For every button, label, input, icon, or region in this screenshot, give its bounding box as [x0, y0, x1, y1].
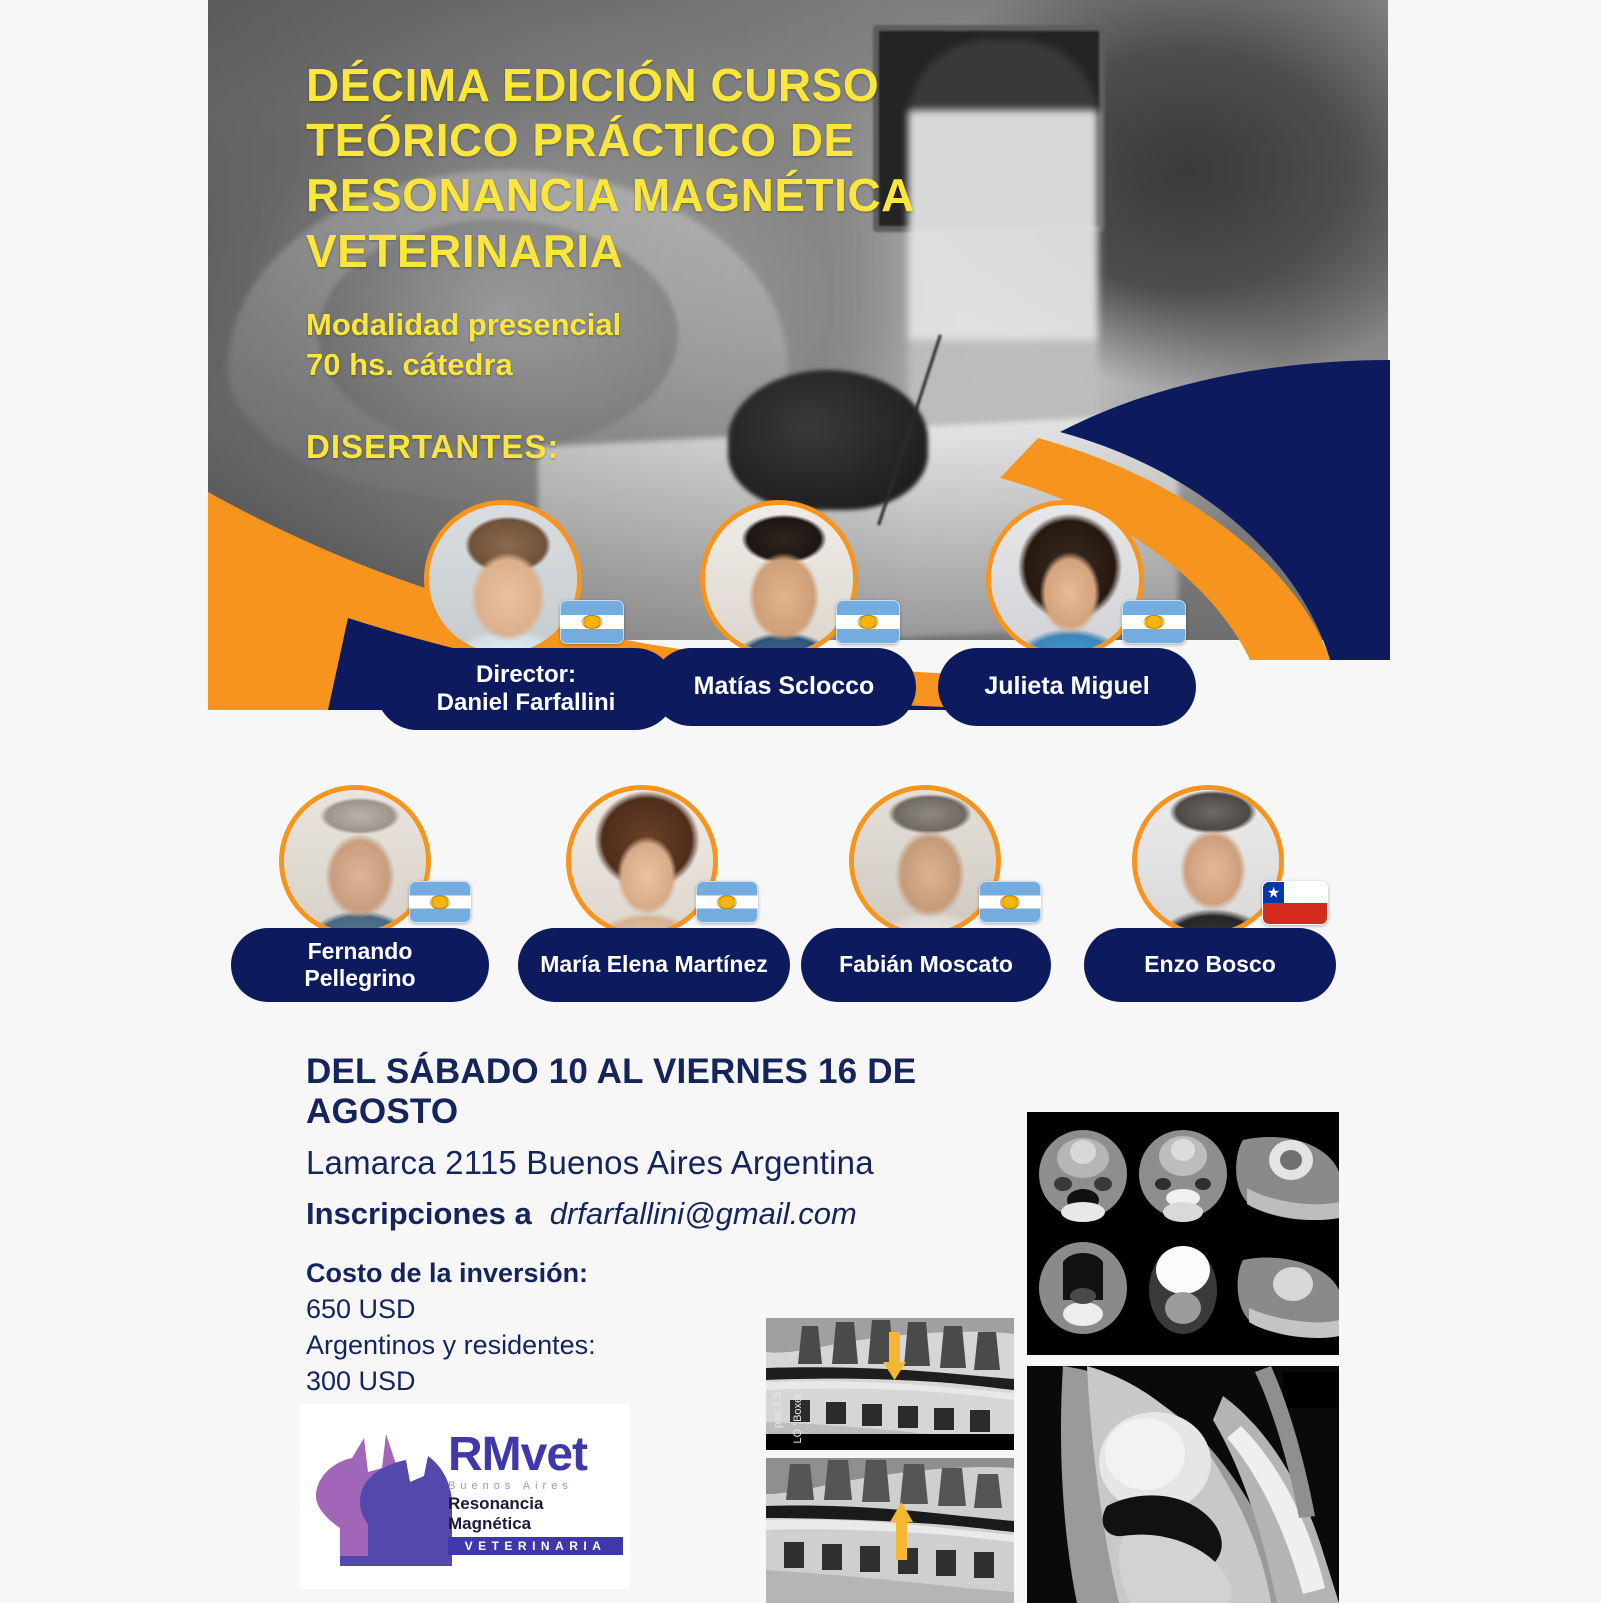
- rmvet-logo-text: RMvet Buenos Aires Resonancia Magnética …: [448, 1432, 623, 1555]
- title-line-3: RESONANCIA MAGNÉTICA: [306, 168, 1066, 223]
- event-dates: DEL SÁBADO 10 AL VIERNES 16 DE AGOSTO: [306, 1052, 1066, 1132]
- event-address: Lamarca 2115 Buenos Aires Argentina: [306, 1144, 1066, 1182]
- speaker-name-pill: Matías Sclocco: [652, 648, 916, 726]
- poster-root: DÉCIMA EDICIÓN CURSO TEÓRICO PRÁCTICO DE…: [0, 0, 1601, 1603]
- chile-flag-icon: ★: [1262, 881, 1328, 925]
- speakers-heading: DISERTANTES:: [306, 428, 559, 466]
- argentina-flag-icon: [1122, 600, 1186, 644]
- avatar-photo: [991, 505, 1139, 653]
- avatar-photo: [854, 790, 996, 932]
- mri-spine-label-2: LO "Boxer 6: [792, 1384, 804, 1444]
- title-line-2: TEÓRICO PRÁCTICO DE: [306, 113, 1066, 168]
- speaker-name-pill: Fabián Moscato: [801, 928, 1051, 1002]
- sun-of-may-icon: [1000, 895, 1020, 909]
- argentina-flag-icon: [836, 600, 900, 644]
- title-line-4: VETERINARIA: [306, 224, 1066, 279]
- sun-of-may-icon: [430, 895, 450, 909]
- mri-image-head-series: [1027, 1112, 1339, 1355]
- speaker-name-pill: Director: Daniel Farfallini: [376, 648, 676, 730]
- argentina-flag-icon: [409, 881, 471, 923]
- sun-of-may-icon: [717, 895, 737, 909]
- speaker-name-pill: María Elena Martínez: [518, 928, 790, 1002]
- rmvet-logo: RMvet Buenos Aires Resonancia Magnética …: [300, 1404, 630, 1589]
- avatar-photo: [284, 790, 426, 932]
- rmvet-tagline: Resonancia Magnética: [448, 1494, 623, 1534]
- argentina-flag-icon: [696, 881, 758, 923]
- registration-line: Inscripciones a drfarfallini@gmail.com: [306, 1196, 1066, 1232]
- title-line-1: DÉCIMA EDICIÓN CURSO: [306, 58, 1066, 113]
- avatar-photo: [429, 505, 577, 653]
- sun-of-may-icon: [581, 615, 602, 629]
- mri-spine-label-1: pse 1.5: [772, 1392, 784, 1428]
- avatar-photo: [571, 790, 713, 932]
- registration-email[interactable]: drfarfallini@gmail.com: [550, 1196, 857, 1232]
- poster-title-block: DÉCIMA EDICIÓN CURSO TEÓRICO PRÁCTICO DE…: [306, 58, 1066, 385]
- rmvet-brand: RMvet: [448, 1432, 623, 1478]
- cost-label: Costo de la inversión:: [306, 1258, 1066, 1289]
- rmvet-city: Buenos Aires: [448, 1480, 623, 1492]
- speaker-name-pill: Fernando Pellegrino: [231, 928, 489, 1002]
- mri-image-knee-sagittal: [1027, 1366, 1339, 1603]
- avatar: [986, 500, 1144, 658]
- sun-of-may-icon: [857, 615, 878, 629]
- subtitle-block: Modalidad presencial 70 hs. cátedra: [306, 305, 1066, 386]
- chile-flag-star-icon: ★: [1267, 885, 1280, 900]
- avatar: [424, 500, 582, 658]
- argentina-flag-icon: [560, 600, 624, 644]
- speaker-name-pill: Enzo Bosco: [1084, 928, 1336, 1002]
- avatar-photo: [1137, 790, 1279, 932]
- subtitle-line-1: Modalidad presencial: [306, 305, 1066, 345]
- mri-image-spine-sagittal-top: pse 1.5 LO "Boxer 6: [766, 1318, 1014, 1450]
- mri-image-spine-sagittal-bottom: [766, 1458, 1014, 1603]
- subtitle-line-2: 70 hs. cátedra: [306, 345, 1066, 385]
- speaker-card-enzo-bosco: ★ Enzo Bosco: [1132, 785, 1432, 1005]
- dog-cat-silhouette-icon: [306, 1416, 466, 1586]
- avatar: [700, 500, 858, 658]
- argentina-flag-icon: [979, 881, 1041, 923]
- chile-flag-red-band: [1263, 903, 1327, 924]
- rmvet-veterinaria-band: VETERINARIA: [448, 1537, 623, 1555]
- speaker-card-julieta-miguel: Julieta Miguel: [986, 500, 1296, 730]
- registration-label: Inscripciones a: [306, 1196, 532, 1232]
- speaker-name-pill: Julieta Miguel: [938, 648, 1196, 726]
- avatar-photo: [705, 505, 853, 653]
- sun-of-may-icon: [1143, 615, 1164, 629]
